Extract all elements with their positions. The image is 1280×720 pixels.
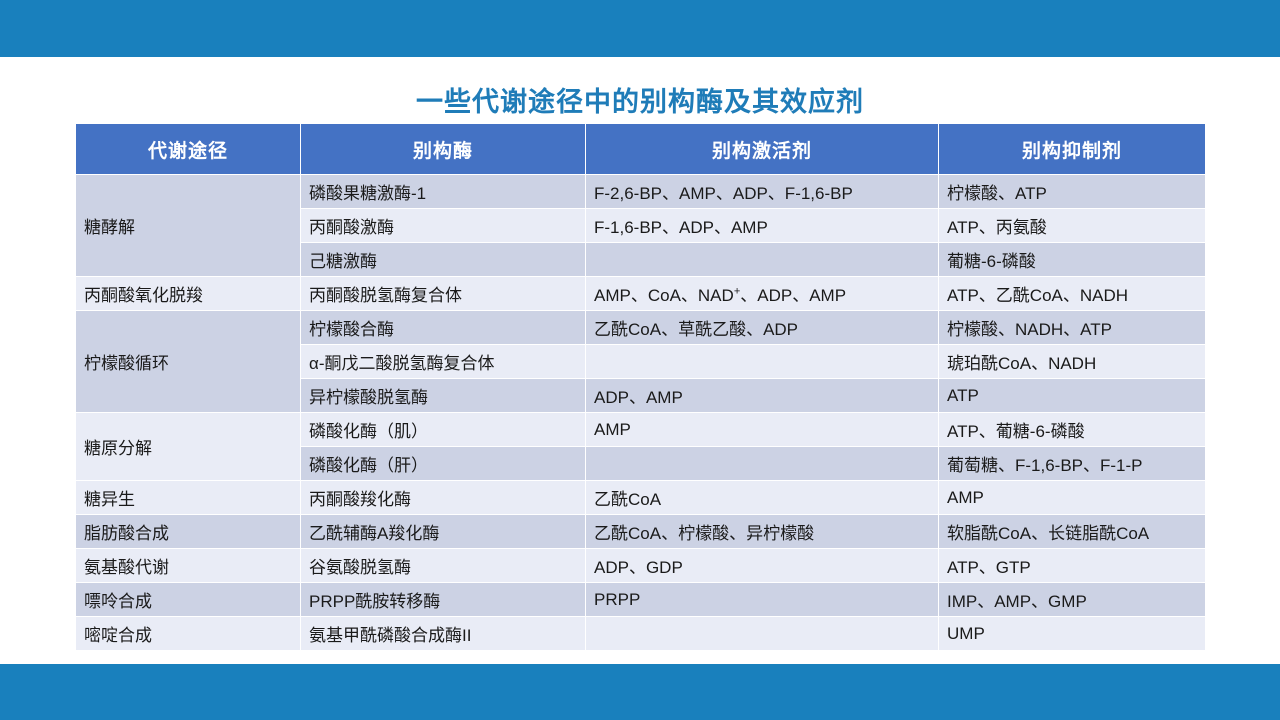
column-header-enzyme: 别构酶 (301, 124, 585, 174)
table-row: 氨基酸代谢谷氨酸脱氢酶ADP、GDPATP、GTP (76, 549, 1205, 582)
bottom-banner (0, 664, 1280, 720)
cell-pathway: 丙酮酸氧化脱羧 (76, 277, 300, 310)
table-row: 糖酵解磷酸果糖激酶-1F-2,6-BP、AMP、ADP、F-1,6-BP柠檬酸、… (76, 175, 1205, 208)
cell-pathway: 脂肪酸合成 (76, 515, 300, 548)
table-row: 柠檬酸循环柠檬酸合酶乙酰CoA、草酰乙酸、ADP柠檬酸、NADH、ATP (76, 311, 1205, 344)
cell-pathway: 柠檬酸循环 (76, 311, 300, 412)
cell-activator (586, 243, 938, 276)
cell-activator (586, 447, 938, 480)
table-body: 糖酵解磷酸果糖激酶-1F-2,6-BP、AMP、ADP、F-1,6-BP柠檬酸、… (76, 175, 1205, 650)
cell-inhibitor: ATP、葡糖-6-磷酸 (939, 413, 1205, 446)
allosteric-enzyme-table: 代谢途径 别构酶 别构激活剂 别构抑制剂 糖酵解磷酸果糖激酶-1F-2,6-BP… (75, 123, 1206, 651)
page-title: 一些代谢途径中的别构酶及其效应剂 (0, 80, 1280, 119)
cell-enzyme: 异柠檬酸脱氢酶 (301, 379, 585, 412)
cell-inhibitor: UMP (939, 617, 1205, 650)
column-header-pathway: 代谢途径 (76, 124, 300, 174)
cell-inhibitor: ATP (939, 379, 1205, 412)
table-header: 代谢途径 别构酶 别构激活剂 别构抑制剂 (76, 124, 1205, 174)
table-row: 嘌呤合成PRPP酰胺转移酶PRPPIMP、AMP、GMP (76, 583, 1205, 616)
table-row: 丙酮酸氧化脱羧丙酮酸脱氢酶复合体AMP、CoA、NAD+、ADP、AMPATP、… (76, 277, 1205, 310)
top-banner (0, 0, 1280, 57)
cell-inhibitor: AMP (939, 481, 1205, 514)
allosteric-enzyme-table-container: 代谢途径 别构酶 别构激活剂 别构抑制剂 糖酵解磷酸果糖激酶-1F-2,6-BP… (75, 123, 1205, 651)
cell-enzyme: α-酮戊二酸脱氢酶复合体 (301, 345, 585, 378)
cell-activator: 乙酰CoA (586, 481, 938, 514)
cell-enzyme: 丙酮酸脱氢酶复合体 (301, 277, 585, 310)
cell-enzyme: 磷酸化酶（肌） (301, 413, 585, 446)
cell-enzyme: 磷酸果糖激酶-1 (301, 175, 585, 208)
cell-activator: 乙酰CoA、草酰乙酸、ADP (586, 311, 938, 344)
cell-activator: ADP、AMP (586, 379, 938, 412)
cell-pathway: 嘌呤合成 (76, 583, 300, 616)
cell-activator: 乙酰CoA、柠檬酸、异柠檬酸 (586, 515, 938, 548)
cell-inhibitor: ATP、乙酰CoA、NADH (939, 277, 1205, 310)
cell-enzyme: 氨基甲酰磷酸合成酶II (301, 617, 585, 650)
cell-enzyme: 丙酮酸羧化酶 (301, 481, 585, 514)
cell-enzyme: 乙酰辅酶A羧化酶 (301, 515, 585, 548)
cell-inhibitor: 柠檬酸、NADH、ATP (939, 311, 1205, 344)
cell-enzyme: 磷酸化酶（肝） (301, 447, 585, 480)
cell-pathway: 糖酵解 (76, 175, 300, 276)
column-header-inhibitor: 别构抑制剂 (939, 124, 1205, 174)
cell-pathway: 糖原分解 (76, 413, 300, 480)
cell-activator: ADP、GDP (586, 549, 938, 582)
cell-enzyme: 柠檬酸合酶 (301, 311, 585, 344)
cell-activator: F-1,6-BP、ADP、AMP (586, 209, 938, 242)
cell-enzyme: 己糖激酶 (301, 243, 585, 276)
table-header-row: 代谢途径 别构酶 别构激活剂 别构抑制剂 (76, 124, 1205, 174)
cell-activator (586, 345, 938, 378)
cell-pathway: 嘧啶合成 (76, 617, 300, 650)
cell-activator: AMP、CoA、NAD+、ADP、AMP (586, 277, 938, 310)
cell-inhibitor: 葡萄糖、F-1,6-BP、F-1-P (939, 447, 1205, 480)
table-row: 嘧啶合成氨基甲酰磷酸合成酶IIUMP (76, 617, 1205, 650)
cell-inhibitor: 琥珀酰CoA、NADH (939, 345, 1205, 378)
cell-inhibitor: IMP、AMP、GMP (939, 583, 1205, 616)
table-row: 脂肪酸合成乙酰辅酶A羧化酶乙酰CoA、柠檬酸、异柠檬酸软脂酰CoA、长链脂酰Co… (76, 515, 1205, 548)
cell-activator: F-2,6-BP、AMP、ADP、F-1,6-BP (586, 175, 938, 208)
cell-inhibitor: ATP、GTP (939, 549, 1205, 582)
cell-enzyme: 谷氨酸脱氢酶 (301, 549, 585, 582)
cell-inhibitor: 葡糖-6-磷酸 (939, 243, 1205, 276)
cell-pathway: 氨基酸代谢 (76, 549, 300, 582)
cell-inhibitor: 软脂酰CoA、长链脂酰CoA (939, 515, 1205, 548)
cell-pathway: 糖异生 (76, 481, 300, 514)
table-row: 糖异生丙酮酸羧化酶乙酰CoAAMP (76, 481, 1205, 514)
cell-inhibitor: ATP、丙氨酸 (939, 209, 1205, 242)
cell-inhibitor: 柠檬酸、ATP (939, 175, 1205, 208)
cell-activator (586, 617, 938, 650)
cell-activator: AMP (586, 413, 938, 446)
table-row: 糖原分解磷酸化酶（肌）AMPATP、葡糖-6-磷酸 (76, 413, 1205, 446)
cell-activator: PRPP (586, 583, 938, 616)
column-header-activator: 别构激活剂 (586, 124, 938, 174)
cell-enzyme: PRPP酰胺转移酶 (301, 583, 585, 616)
cell-enzyme: 丙酮酸激酶 (301, 209, 585, 242)
